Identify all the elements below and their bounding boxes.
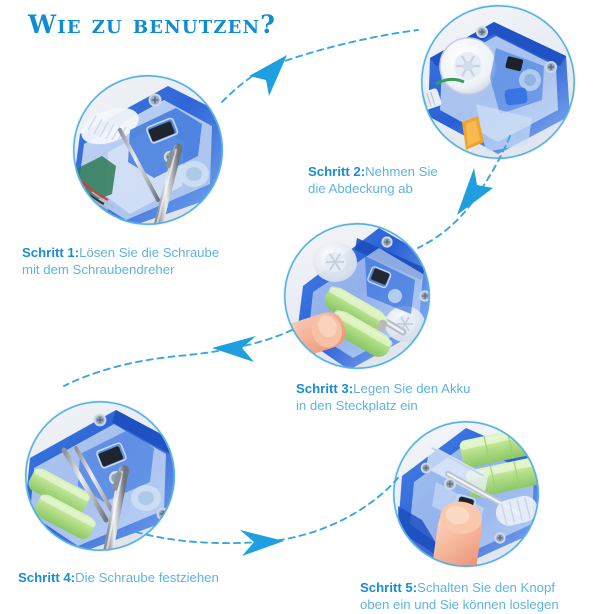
step-4-caption: Schritt 4:Die Schraube festziehen	[18, 551, 219, 586]
step-2-caption: Schritt 2:Nehmen Sie die Abdeckung ab	[308, 145, 438, 198]
step-1-label: Schritt 1:	[22, 245, 79, 260]
step-3-label: Schritt 3:	[296, 381, 353, 396]
step-2-photo	[420, 4, 576, 160]
step-2-label: Schritt 2:	[308, 164, 365, 179]
step-4-text: Die Schraube festziehen	[75, 570, 219, 585]
infographic-stage: Wie zu benutzen?	[0, 0, 600, 600]
step-3-caption: Schritt 3:Legen Sie den Akku in den Stec…	[296, 362, 470, 415]
arrow-step1-to-step2	[222, 30, 418, 102]
arrow-step3-to-step4	[64, 330, 292, 386]
step-5-label: Schritt 5:	[360, 580, 417, 595]
page-title: Wie zu benutzen?	[28, 10, 276, 39]
step-5-photo	[392, 420, 540, 568]
step-1-photo	[72, 74, 224, 226]
step-4-photo	[24, 400, 176, 552]
arrow-step4-to-step5	[136, 478, 398, 556]
step-1-caption: Schritt 1:Lösen Sie die Schraube mit dem…	[22, 226, 219, 279]
step-5-caption: Schritt 5:Schalten Sie den Knopf oben ei…	[360, 561, 559, 614]
step-3-photo	[283, 222, 431, 370]
step-4-label: Schritt 4:	[18, 570, 75, 585]
